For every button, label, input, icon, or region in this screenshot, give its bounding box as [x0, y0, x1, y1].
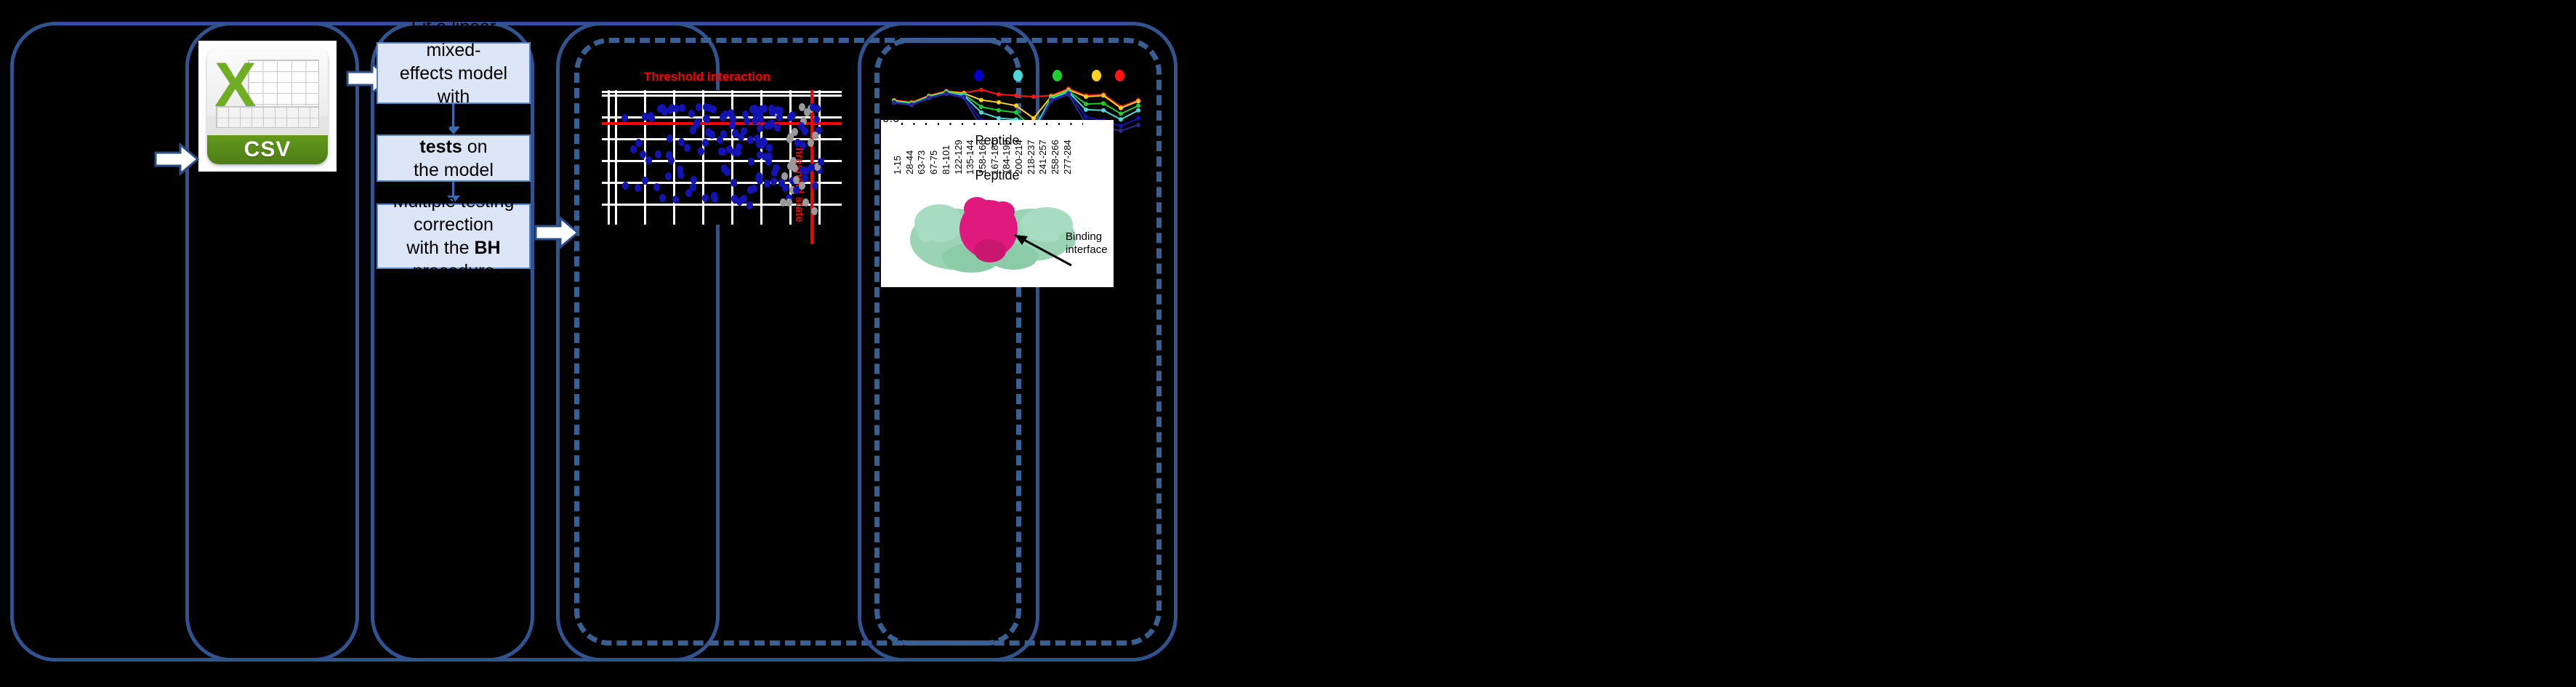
- scatter-point: [726, 145, 733, 153]
- scatter-point: [679, 104, 685, 112]
- scatter-point: [786, 198, 792, 206]
- peptide-series-marker: [1136, 103, 1140, 108]
- step3-line2: correction: [414, 214, 494, 235]
- peptide-series-marker: [1066, 92, 1071, 97]
- peptide-series-marker: [909, 103, 914, 108]
- peptide-series-marker: [1084, 102, 1088, 106]
- peptide-series-marker: [979, 98, 983, 103]
- scatter-point: [690, 183, 696, 191]
- excel-x-icon: X: [214, 54, 256, 116]
- scatter-plot-area: Threshold state: [602, 90, 842, 225]
- peptide-y-tick-label: 0.0: [882, 111, 900, 126]
- peptide-series-marker: [979, 111, 983, 115]
- peptide-series-marker: [997, 92, 1001, 97]
- scatter-point: [622, 182, 629, 190]
- peptide-series-marker: [1084, 95, 1088, 99]
- scatter-point: [736, 198, 743, 206]
- scatter-point: [724, 168, 730, 176]
- scatter-point: [812, 132, 818, 140]
- scatter-point: [804, 108, 810, 116]
- peptide-series-marker: [1084, 108, 1088, 112]
- step3-line3-post: procedure: [413, 261, 495, 281]
- peptide-series-marker: [979, 105, 983, 109]
- peptide-series-marker: [1119, 129, 1123, 133]
- protein-surface-illustration: [904, 187, 1086, 274]
- peptide-series-marker: [892, 101, 896, 105]
- csv-label: CSV: [244, 137, 291, 162]
- peptide-legend-dot: [1115, 70, 1124, 81]
- peptide-legend-dot: [1052, 70, 1062, 81]
- peptide-series-marker: [1084, 115, 1088, 119]
- scatter-threshold-interaction-label: Threshold interaction: [644, 70, 770, 84]
- peptide-series-marker: [962, 96, 966, 100]
- peptide-series-marker: [927, 96, 931, 100]
- peptide-series-marker: [1101, 101, 1106, 105]
- scatter-point: [782, 184, 789, 192]
- step-box-bh-correction: Multiple testing correction with the BH …: [377, 204, 531, 269]
- scatter-point: [635, 139, 642, 147]
- step3-bh-bold: BH: [475, 238, 501, 258]
- scatter-point: [802, 174, 808, 182]
- scatter-point: [642, 177, 648, 185]
- scatter-plot-panel: Threshold interaction Threshold state: [602, 70, 842, 233]
- scatter-point: [790, 157, 797, 165]
- step-box-wald-tests: Apply Wald tests on the model parameters: [377, 134, 531, 182]
- step3-line3-pre: with the: [406, 238, 474, 258]
- scatter-point: [630, 145, 637, 153]
- scatter-point: [735, 148, 741, 156]
- scatter-point: [640, 150, 646, 158]
- peptide-series-marker: [1119, 117, 1123, 121]
- scatter-point: [653, 183, 660, 191]
- scatter-point: [696, 103, 702, 111]
- peptide-series-marker: [1136, 116, 1140, 121]
- scatter-point: [621, 114, 628, 122]
- structure-peptide-title: Peptide: [881, 133, 1114, 148]
- scatter-point: [786, 135, 793, 143]
- scatter-point: [757, 124, 763, 132]
- scatter-point: [774, 124, 781, 132]
- scatter-point: [811, 207, 818, 215]
- scatter-point: [748, 158, 754, 166]
- flow-arrow-1-icon: [154, 142, 199, 176]
- csv-label-band: CSV: [207, 135, 328, 164]
- scatter-point: [756, 110, 762, 118]
- scatter-point: [766, 144, 773, 152]
- scatter-point: [818, 158, 824, 166]
- scatter-point: [793, 176, 800, 184]
- step-box-reml-model: Fit a linear mixed- effects model with R…: [377, 42, 531, 104]
- scatter-point: [770, 177, 777, 185]
- scatter-point: [684, 144, 691, 152]
- peptide-series-marker: [1101, 108, 1106, 113]
- scatter-point: [749, 105, 756, 113]
- scatter-point: [717, 136, 723, 144]
- scatter-point: [747, 136, 754, 144]
- csv-file-icon: X CSV: [198, 41, 337, 172]
- binding-interface-line1: Binding: [1066, 230, 1115, 244]
- scatter-point: [746, 201, 753, 209]
- scatter-point: [765, 158, 772, 166]
- scatter-point: [659, 104, 666, 112]
- scatter-point: [752, 117, 758, 125]
- scatter-point: [712, 195, 718, 203]
- scatter-point: [730, 179, 737, 187]
- peptide-series-marker: [1101, 93, 1106, 97]
- peptide-series-marker: [1049, 99, 1053, 103]
- peptide-axis-ticks: [901, 123, 1083, 125]
- binding-interface-line2: interface: [1066, 244, 1115, 257]
- scatter-point: [709, 131, 715, 139]
- scatter-point: [793, 186, 800, 194]
- scatter-point: [813, 116, 820, 124]
- step1-line2: effects model with: [400, 63, 507, 107]
- scatter-point: [722, 111, 728, 118]
- scatter-point: [720, 148, 726, 156]
- scatter-point: [698, 148, 704, 156]
- scatter-point: [702, 194, 709, 202]
- scatter-point: [655, 150, 661, 158]
- scatter-point: [688, 110, 695, 118]
- scatter-point: [667, 134, 673, 142]
- scatter-point: [755, 174, 762, 182]
- peptide-series-marker: [1014, 93, 1018, 97]
- scatter-point: [800, 166, 806, 174]
- peptide-legend-dot: [974, 70, 983, 81]
- step2-pre: Apply: [407, 113, 457, 134]
- peptide-series-marker: [1119, 124, 1123, 129]
- binding-interface-label: Binding interface: [1066, 230, 1115, 257]
- scatter-point: [773, 164, 779, 172]
- scatter-point: [808, 164, 815, 172]
- scatter-point: [787, 113, 794, 121]
- peptide-series-marker: [1136, 123, 1140, 127]
- scatter-point: [648, 112, 654, 120]
- scatter-point: [704, 115, 710, 123]
- scatter-point: [812, 182, 818, 190]
- scatter-point: [802, 198, 809, 206]
- scatter-point: [702, 139, 709, 147]
- scatter-point: [693, 121, 699, 129]
- scatter-point: [742, 111, 749, 118]
- peptide-series-marker: [1136, 99, 1140, 103]
- scatter-point: [798, 122, 805, 130]
- scatter-point: [760, 137, 766, 145]
- scatter-point: [645, 156, 652, 164]
- scatter-point: [659, 194, 666, 202]
- peptide-series-marker: [1014, 111, 1018, 115]
- peptide-series-marker: [944, 92, 949, 96]
- scatter-point: [768, 119, 775, 127]
- scatter-point: [800, 141, 806, 149]
- scatter-point: [774, 106, 781, 114]
- step2-post: on: [462, 137, 488, 157]
- scatter-point: [757, 151, 763, 159]
- peptide-series-marker: [1136, 108, 1140, 113]
- peptide-series-marker: [979, 88, 983, 92]
- peptide-series-marker: [1014, 103, 1018, 108]
- scatter-point: [665, 172, 672, 180]
- peptide-legend-dot: [1013, 70, 1023, 81]
- scatter-point: [677, 171, 684, 179]
- scatter-point: [635, 184, 641, 192]
- scatter-point: [808, 139, 814, 147]
- peptide-series-marker: [1119, 106, 1123, 111]
- structure-card: 0.0 1-1528-4463-7367-7581-101122-129135-…: [881, 120, 1114, 287]
- scatter-point: [667, 106, 674, 114]
- scatter-point: [672, 196, 679, 204]
- csv-tile: X CSV: [207, 48, 328, 164]
- peptide-series-marker: [997, 100, 1001, 105]
- scatter-point: [751, 185, 757, 193]
- scatter-point: [741, 127, 747, 135]
- peptide-axis-title: Peptide: [881, 168, 1114, 183]
- peptide-series-marker: [1119, 111, 1123, 116]
- peptide-legend-dot: [1092, 70, 1101, 81]
- flow-arrow-3-icon: [534, 216, 579, 249]
- peptide-series-marker: [1031, 95, 1036, 99]
- step1-line1: Fit a linear mixed-: [411, 17, 496, 60]
- scatter-point: [814, 105, 821, 113]
- scatter-point: [764, 180, 770, 188]
- scatter-point: [729, 121, 736, 129]
- peptide-series-marker: [997, 108, 1001, 113]
- scatter-point: [799, 182, 805, 190]
- step3-line1: Multiple testing: [393, 191, 515, 212]
